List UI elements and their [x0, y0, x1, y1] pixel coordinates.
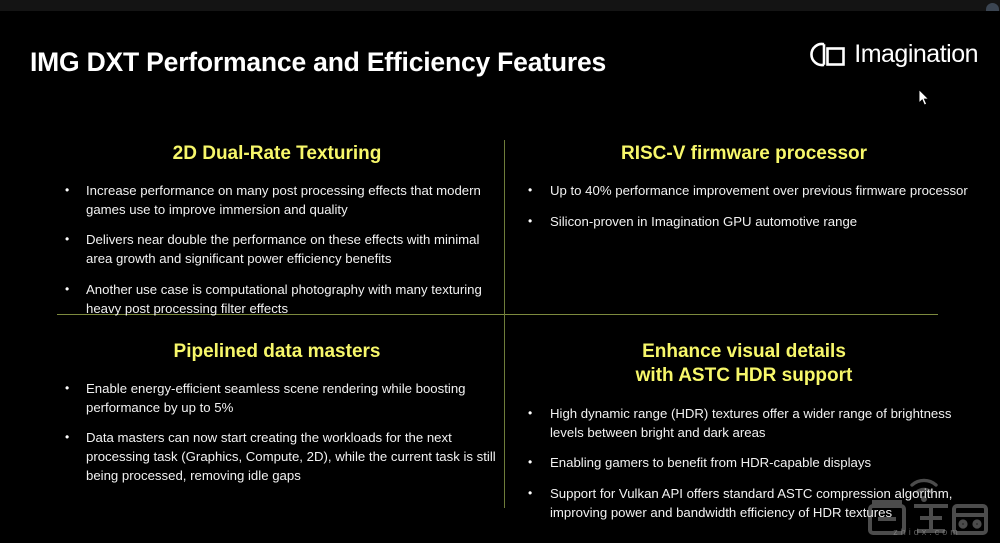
list-item-text: Data masters can now start creating the …: [86, 430, 496, 482]
quadrant-2d-dual-rate-texturing: 2D Dual-Rate Texturing • Increase perfor…: [57, 142, 497, 318]
bullet-icon: •: [528, 405, 532, 422]
list-item-text: Enabling gamers to benefit from HDR-capa…: [550, 455, 871, 470]
list-item-text: Up to 40% performance improvement over p…: [550, 183, 968, 198]
list-item: • High dynamic range (HDR) textures offe…: [519, 405, 969, 442]
presentation-slide: IMG DXT Performance and Efficiency Featu…: [0, 11, 1000, 543]
list-item-text: Silicon-proven in Imagination GPU automo…: [550, 214, 857, 229]
list-item: • Another use case is computational phot…: [57, 281, 497, 318]
divider-vertical: [504, 140, 505, 508]
quadrant-heading-line-2: with ASTC HDR support: [519, 364, 969, 388]
quadrant-heading: RISC-V firmware processor: [519, 142, 969, 166]
imagination-logo-mark-icon: [803, 41, 847, 68]
bullet-list: • Increase performance on many post proc…: [57, 182, 497, 318]
quadrant-enhance-visual-details: Enhance visual details with ASTC HDR sup…: [519, 340, 969, 523]
bullet-icon: •: [65, 380, 69, 397]
list-item: • Delivers near double the performance o…: [57, 231, 497, 268]
page-title: IMG DXT Performance and Efficiency Featu…: [30, 47, 606, 78]
bullet-list: • High dynamic range (HDR) textures offe…: [519, 405, 969, 523]
quadrant-heading: Enhance visual details with ASTC HDR sup…: [519, 340, 969, 388]
bullet-icon: •: [65, 429, 69, 446]
brand-logo: Imagination: [803, 41, 978, 68]
bullet-icon: •: [528, 213, 532, 230]
list-item: • Increase performance on many post proc…: [57, 182, 497, 219]
watermark-domain: zhidx.com: [866, 527, 988, 537]
bullet-icon: •: [528, 182, 532, 199]
quadrant-pipelined-data-masters: Pipelined data masters • Enable energy-e…: [57, 340, 497, 486]
browser-chrome-strip: [0, 0, 1000, 11]
quadrant-risc-v-firmware-processor: RISC-V firmware processor • Up to 40% pe…: [519, 142, 969, 231]
bullet-list: • Enable energy-efficient seamless scene…: [57, 380, 497, 486]
list-item: • Up to 40% performance improvement over…: [519, 182, 969, 201]
vertical-scrollbar[interactable]: [986, 0, 1000, 11]
brand-name: Imagination: [854, 42, 978, 67]
bullet-icon: •: [65, 231, 69, 248]
list-item-text: Enable energy-efficient seamless scene r…: [86, 381, 466, 415]
list-item-text: Delivers near double the performance on …: [86, 232, 479, 266]
bullet-icon: •: [528, 454, 532, 471]
bullet-icon: •: [65, 281, 69, 298]
list-item: • Enabling gamers to benefit from HDR-ca…: [519, 454, 969, 473]
list-item-text: High dynamic range (HDR) textures offer …: [550, 406, 951, 440]
bullet-icon: •: [528, 485, 532, 502]
bullet-icon: •: [65, 182, 69, 199]
list-item: • Data masters can now start creating th…: [57, 429, 497, 485]
list-item-text: Support for Vulkan API offers standard A…: [550, 486, 952, 520]
list-item: • Silicon-proven in Imagination GPU auto…: [519, 213, 969, 232]
list-item: • Support for Vulkan API offers standard…: [519, 485, 969, 522]
quadrant-heading-line-1: Enhance visual details: [519, 340, 969, 364]
list-item-text: Another use case is computational photog…: [86, 282, 482, 316]
list-item-text: Increase performance on many post proces…: [86, 183, 481, 217]
list-item: • Enable energy-efficient seamless scene…: [57, 380, 497, 417]
quadrant-heading: 2D Dual-Rate Texturing: [57, 142, 497, 166]
quadrant-heading: Pipelined data masters: [57, 340, 497, 364]
bullet-list: • Up to 40% performance improvement over…: [519, 182, 969, 231]
mouse-cursor-icon: [918, 89, 930, 107]
